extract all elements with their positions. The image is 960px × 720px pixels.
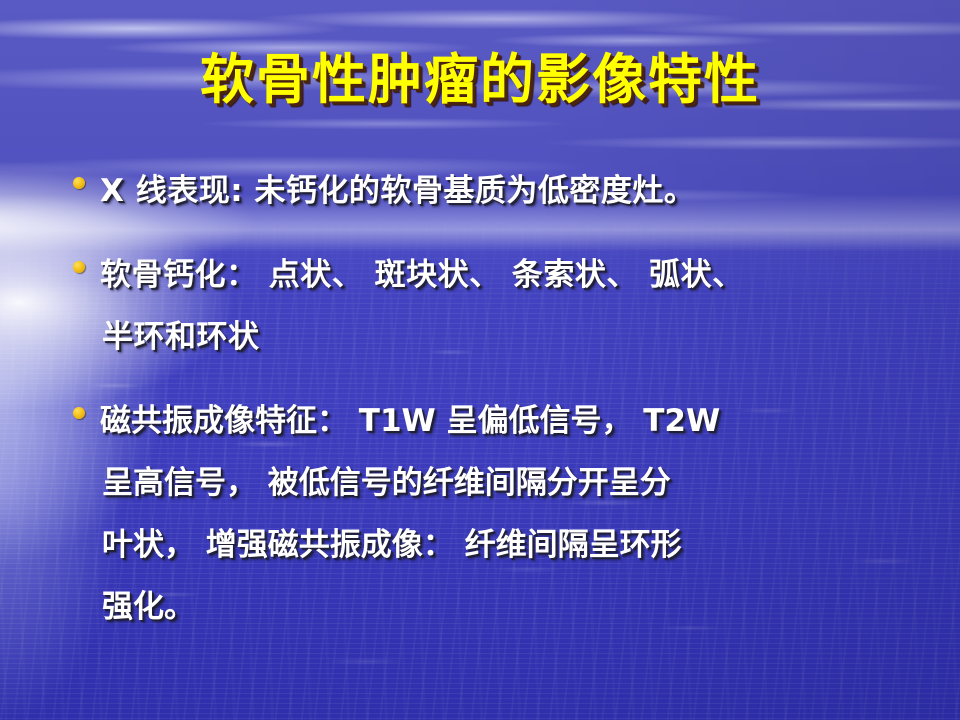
bullet-dot-icon [73,177,85,189]
bullet-item-2: 软骨钙化： 点状、 斑块状、 条索状、 弧状、 半环和环状 [62,244,918,368]
bullet-dot-icon [73,261,85,273]
bullet-item-1: X 线表现: 未钙化的软骨基质为低密度灶。 [62,160,918,222]
bullet-item-2-text: 软骨钙化： 点状、 斑块状、 条索状、 弧状、 半环和环状 [100,244,918,368]
slide-bullet-list: X 线表现: 未钙化的软骨基质为低密度灶。 软骨钙化： 点状、 斑块状、 条索状… [62,160,918,638]
bullet-item-1-text: X 线表现: 未钙化的软骨基质为低密度灶。 [100,160,918,222]
bullet-line: 半环和环状 [100,306,918,368]
presentation-slide: 软骨性肿瘤的影像特性 X 线表现: 未钙化的软骨基质为低密度灶。 软骨钙化： 点… [0,0,960,720]
bullet-item-3: 磁共振成像特征： T1W 呈偏低信号， T2W 呈高信号， 被低信号的纤维间隔分… [62,390,918,638]
bullet-line: 磁共振成像特征： T1W 呈偏低信号， T2W [100,390,918,452]
bullet-dot-icon [73,407,85,419]
slide-title: 软骨性肿瘤的影像特性 [0,52,960,109]
bullet-line: 叶状， 增强磁共振成像： 纤维间隔呈环形 [100,514,918,576]
bullet-line: 强化。 [100,576,918,638]
bullet-line: 呈高信号， 被低信号的纤维间隔分开呈分 [100,452,918,514]
bullet-line: X 线表现: 未钙化的软骨基质为低密度灶。 [100,160,918,222]
bullet-item-3-text: 磁共振成像特征： T1W 呈偏低信号， T2W 呈高信号， 被低信号的纤维间隔分… [100,390,918,638]
bullet-line: 软骨钙化： 点状、 斑块状、 条索状、 弧状、 [100,244,918,306]
